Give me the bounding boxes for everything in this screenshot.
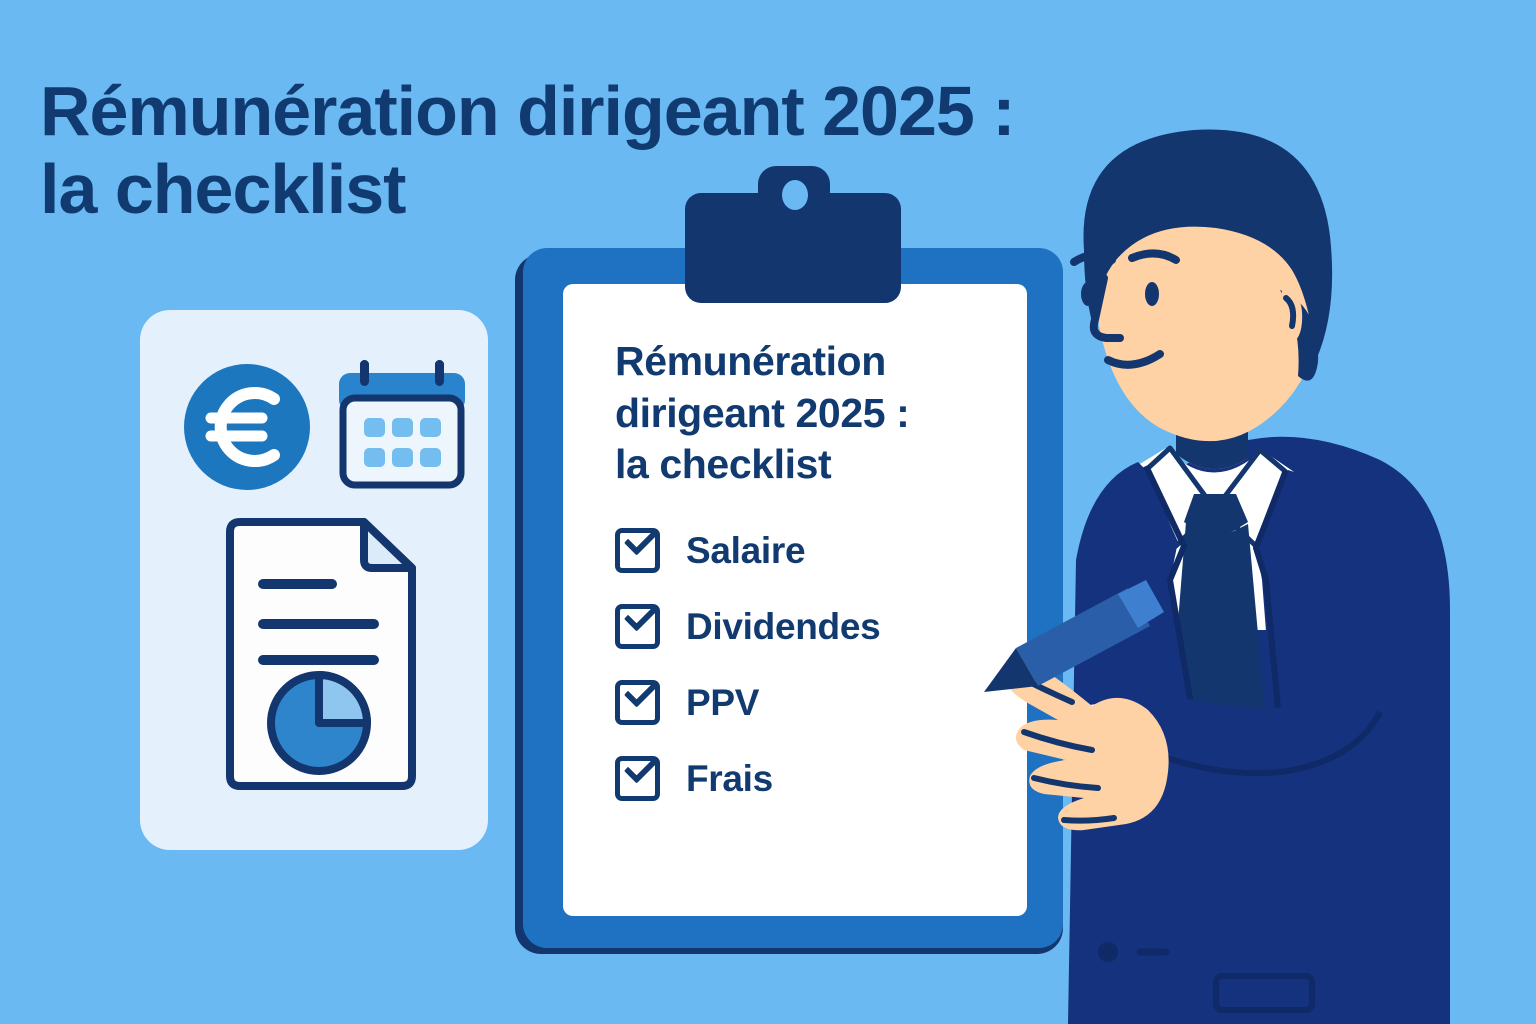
clipboard-content: Rémunération dirigeant 2025 : la checkli… (615, 336, 1035, 817)
checkbox-dividendes[interactable] (615, 604, 660, 649)
document-pie-chart-icon (222, 518, 420, 790)
check-icon (624, 751, 657, 784)
page-title: Rémunération dirigeant 2025 : la checkli… (40, 72, 1160, 229)
euro-coin-icon (182, 362, 312, 492)
checkbox-frais[interactable] (615, 756, 660, 801)
checklist-item-salaire[interactable]: Salaire (615, 513, 1035, 589)
clipboard-title: Rémunération dirigeant 2025 : la checkli… (615, 336, 1035, 491)
checklist-label: Salaire (686, 530, 805, 572)
pen-icon (950, 580, 1170, 710)
checklist-label: Frais (686, 758, 773, 800)
checkbox-ppv[interactable] (615, 680, 660, 725)
checklist-label: Dividendes (686, 606, 880, 648)
check-icon (624, 675, 657, 708)
businessman-illustration (980, 110, 1536, 1024)
pie-chart (271, 675, 367, 771)
poster-canvas: Rémunération dirigeant 2025 : la checkli… (0, 0, 1536, 1024)
check-icon (624, 599, 657, 632)
checkbox-salaire[interactable] (615, 528, 660, 573)
checklist-item-frais[interactable]: Frais (615, 741, 1035, 817)
calendar-icon (334, 356, 470, 492)
check-icon (624, 523, 657, 556)
checklist-label: PPV (686, 682, 759, 724)
info-card (140, 310, 488, 850)
